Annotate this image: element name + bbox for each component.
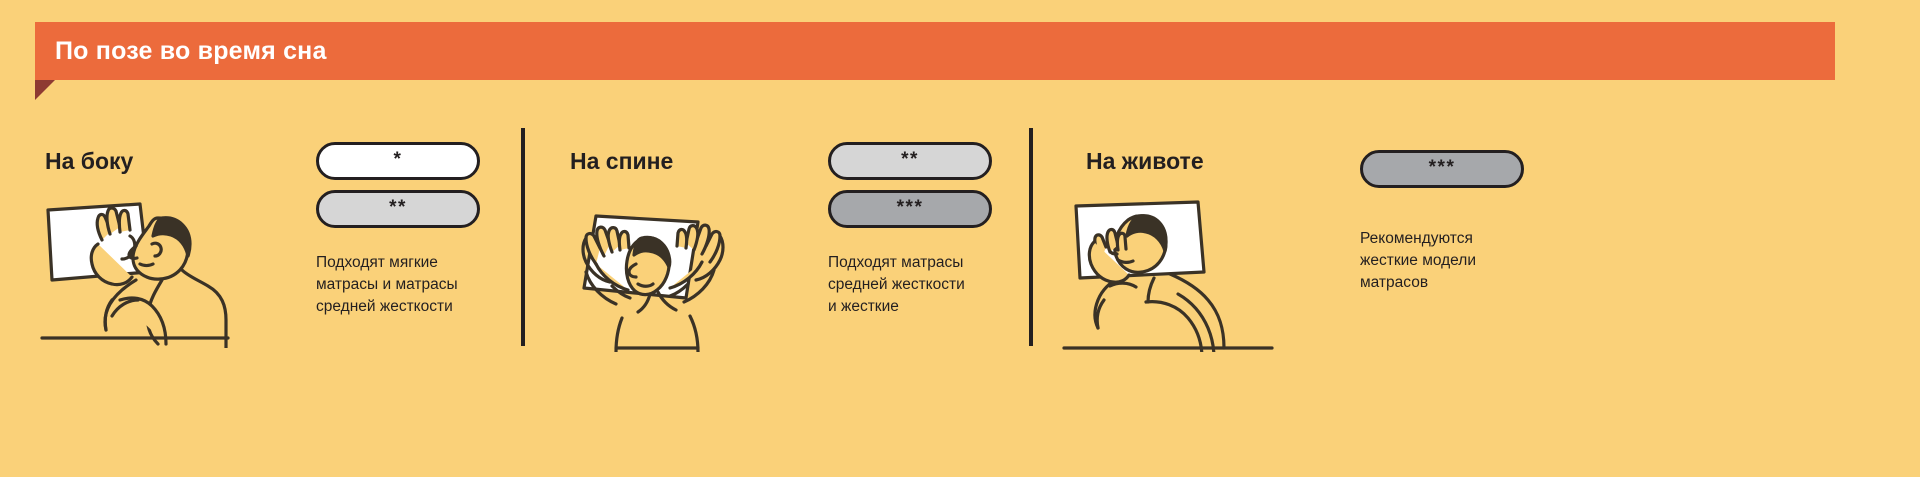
column-divider-1 bbox=[521, 128, 525, 346]
sleep-position-infographic: По позе во время сна На боку bbox=[0, 0, 1920, 477]
badge-firm[interactable]: *** bbox=[1360, 150, 1524, 188]
column-side: На боку bbox=[30, 110, 520, 477]
badge-stack-side: * ** bbox=[316, 142, 480, 238]
badge-firm-stars: *** bbox=[897, 198, 924, 217]
badge-stack-stomach: *** bbox=[1360, 150, 1524, 198]
page-title: По позе во время сна bbox=[55, 22, 327, 80]
caption-back: Подходят матрасы средней жесткости и жес… bbox=[828, 252, 1038, 318]
badge-stack-back: ** *** bbox=[828, 142, 992, 238]
column-heading-stomach: На животе bbox=[1086, 148, 1204, 175]
person-sleeping-on-side-icon bbox=[40, 188, 230, 353]
badge-firm-stars: *** bbox=[1429, 158, 1456, 177]
person-sleeping-on-stomach-icon bbox=[1058, 182, 1278, 357]
badge-medium[interactable]: ** bbox=[828, 142, 992, 180]
person-sleeping-on-back-icon bbox=[550, 172, 770, 357]
column-heading-side: На боку bbox=[45, 148, 133, 175]
ribbon-fold-corner bbox=[35, 80, 55, 100]
badge-medium[interactable]: ** bbox=[316, 190, 480, 228]
badge-soft-stars: * bbox=[394, 150, 403, 169]
badge-medium-stars: ** bbox=[389, 198, 407, 217]
column-back: На спине bbox=[540, 110, 1028, 477]
column-stomach-badges: *** Рекомендуются жесткие модели матрасо… bbox=[1340, 110, 1920, 477]
badge-soft[interactable]: * bbox=[316, 142, 480, 180]
column-heading-back: На спине bbox=[570, 148, 673, 175]
header-ribbon: По позе во время сна bbox=[0, 22, 1920, 92]
badge-firm[interactable]: *** bbox=[828, 190, 992, 228]
caption-stomach: Рекомендуются жесткие модели матрасов bbox=[1360, 228, 1580, 294]
caption-side: Подходят мягкие матрасы и матрасы средне… bbox=[316, 252, 516, 318]
badge-medium-stars: ** bbox=[901, 150, 919, 169]
columns-container: На боку bbox=[0, 110, 1920, 477]
